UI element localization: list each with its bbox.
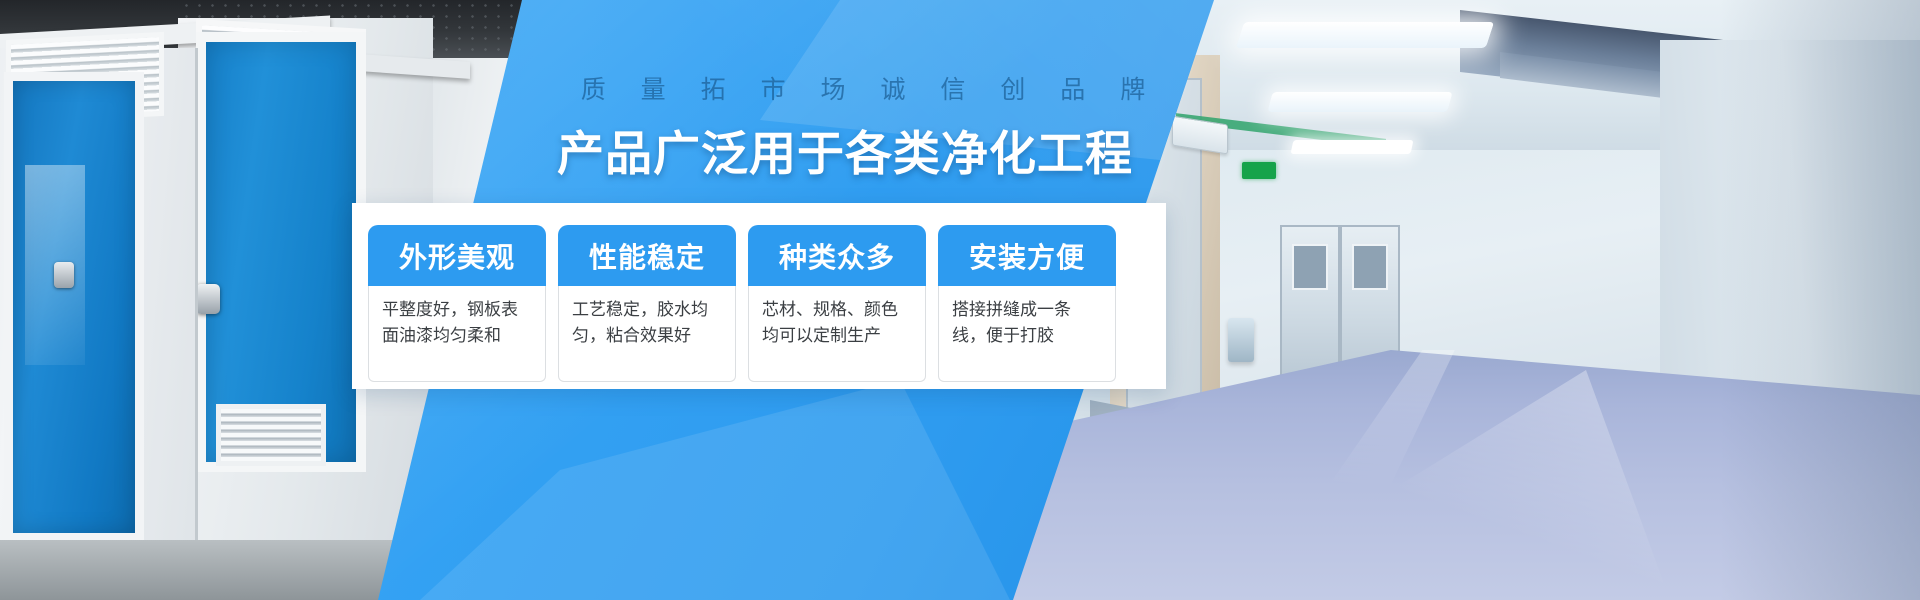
door-handle-middle [196,284,220,314]
feature-card-4[interactable]: 安装方便 搭接拼缝成一条线，便于打胶 [938,225,1116,382]
banner-headline: 产品广泛用于各类净化工程 [495,115,1195,184]
feature-card-3-title: 种类众多 [748,225,926,286]
feature-card-1-title: 外形美观 [368,225,546,286]
door-handle-left [54,262,74,288]
feature-card-3[interactable]: 种类众多 芯材、规格、颜色均可以定制生产 [748,225,926,382]
far-door-window-left [1292,244,1328,290]
exit-sign-icon [1242,162,1276,179]
feature-card-2[interactable]: 性能稳定 工艺稳定，胶水均匀，粘合效果好 [558,225,736,382]
cabin-door-left [4,72,144,542]
feature-card-1[interactable]: 外形美观 平整度好，钢板表面油漆均匀柔和 [368,225,546,382]
feature-card-3-text: 芯材、规格、颜色均可以定制生产 [748,286,926,382]
promo-banner: 质 量 拓 市 场 诚 信 创 品 牌 产品广泛用于各类净化工程 外形美观 平整… [0,0,1920,600]
feature-card-panel: 外形美观 平整度好，钢板表面油漆均匀柔和 性能稳定 工艺稳定，胶水均匀，粘合效果… [352,203,1166,389]
corridor-equipment [1228,318,1254,362]
banner-tagline: 质 量 拓 市 场 诚 信 创 品 牌 [520,70,1220,106]
feature-card-2-text: 工艺稳定，胶水均匀，粘合效果好 [558,286,736,382]
ceiling-light-far-icon [1291,140,1414,154]
feature-card-1-text: 平整度好，钢板表面油漆均匀柔和 [368,286,546,382]
far-door-window-right [1352,244,1388,290]
ceiling-light-near-icon [1236,22,1494,48]
ceiling-light-mid-icon [1267,92,1452,112]
feature-card-2-title: 性能稳定 [558,225,736,286]
door-grille [216,404,326,466]
feature-card-4-text: 搭接拼缝成一条线，便于打胶 [938,286,1116,382]
feature-card-4-title: 安装方便 [938,225,1116,286]
wall-shadow-overlay [1720,0,1920,600]
